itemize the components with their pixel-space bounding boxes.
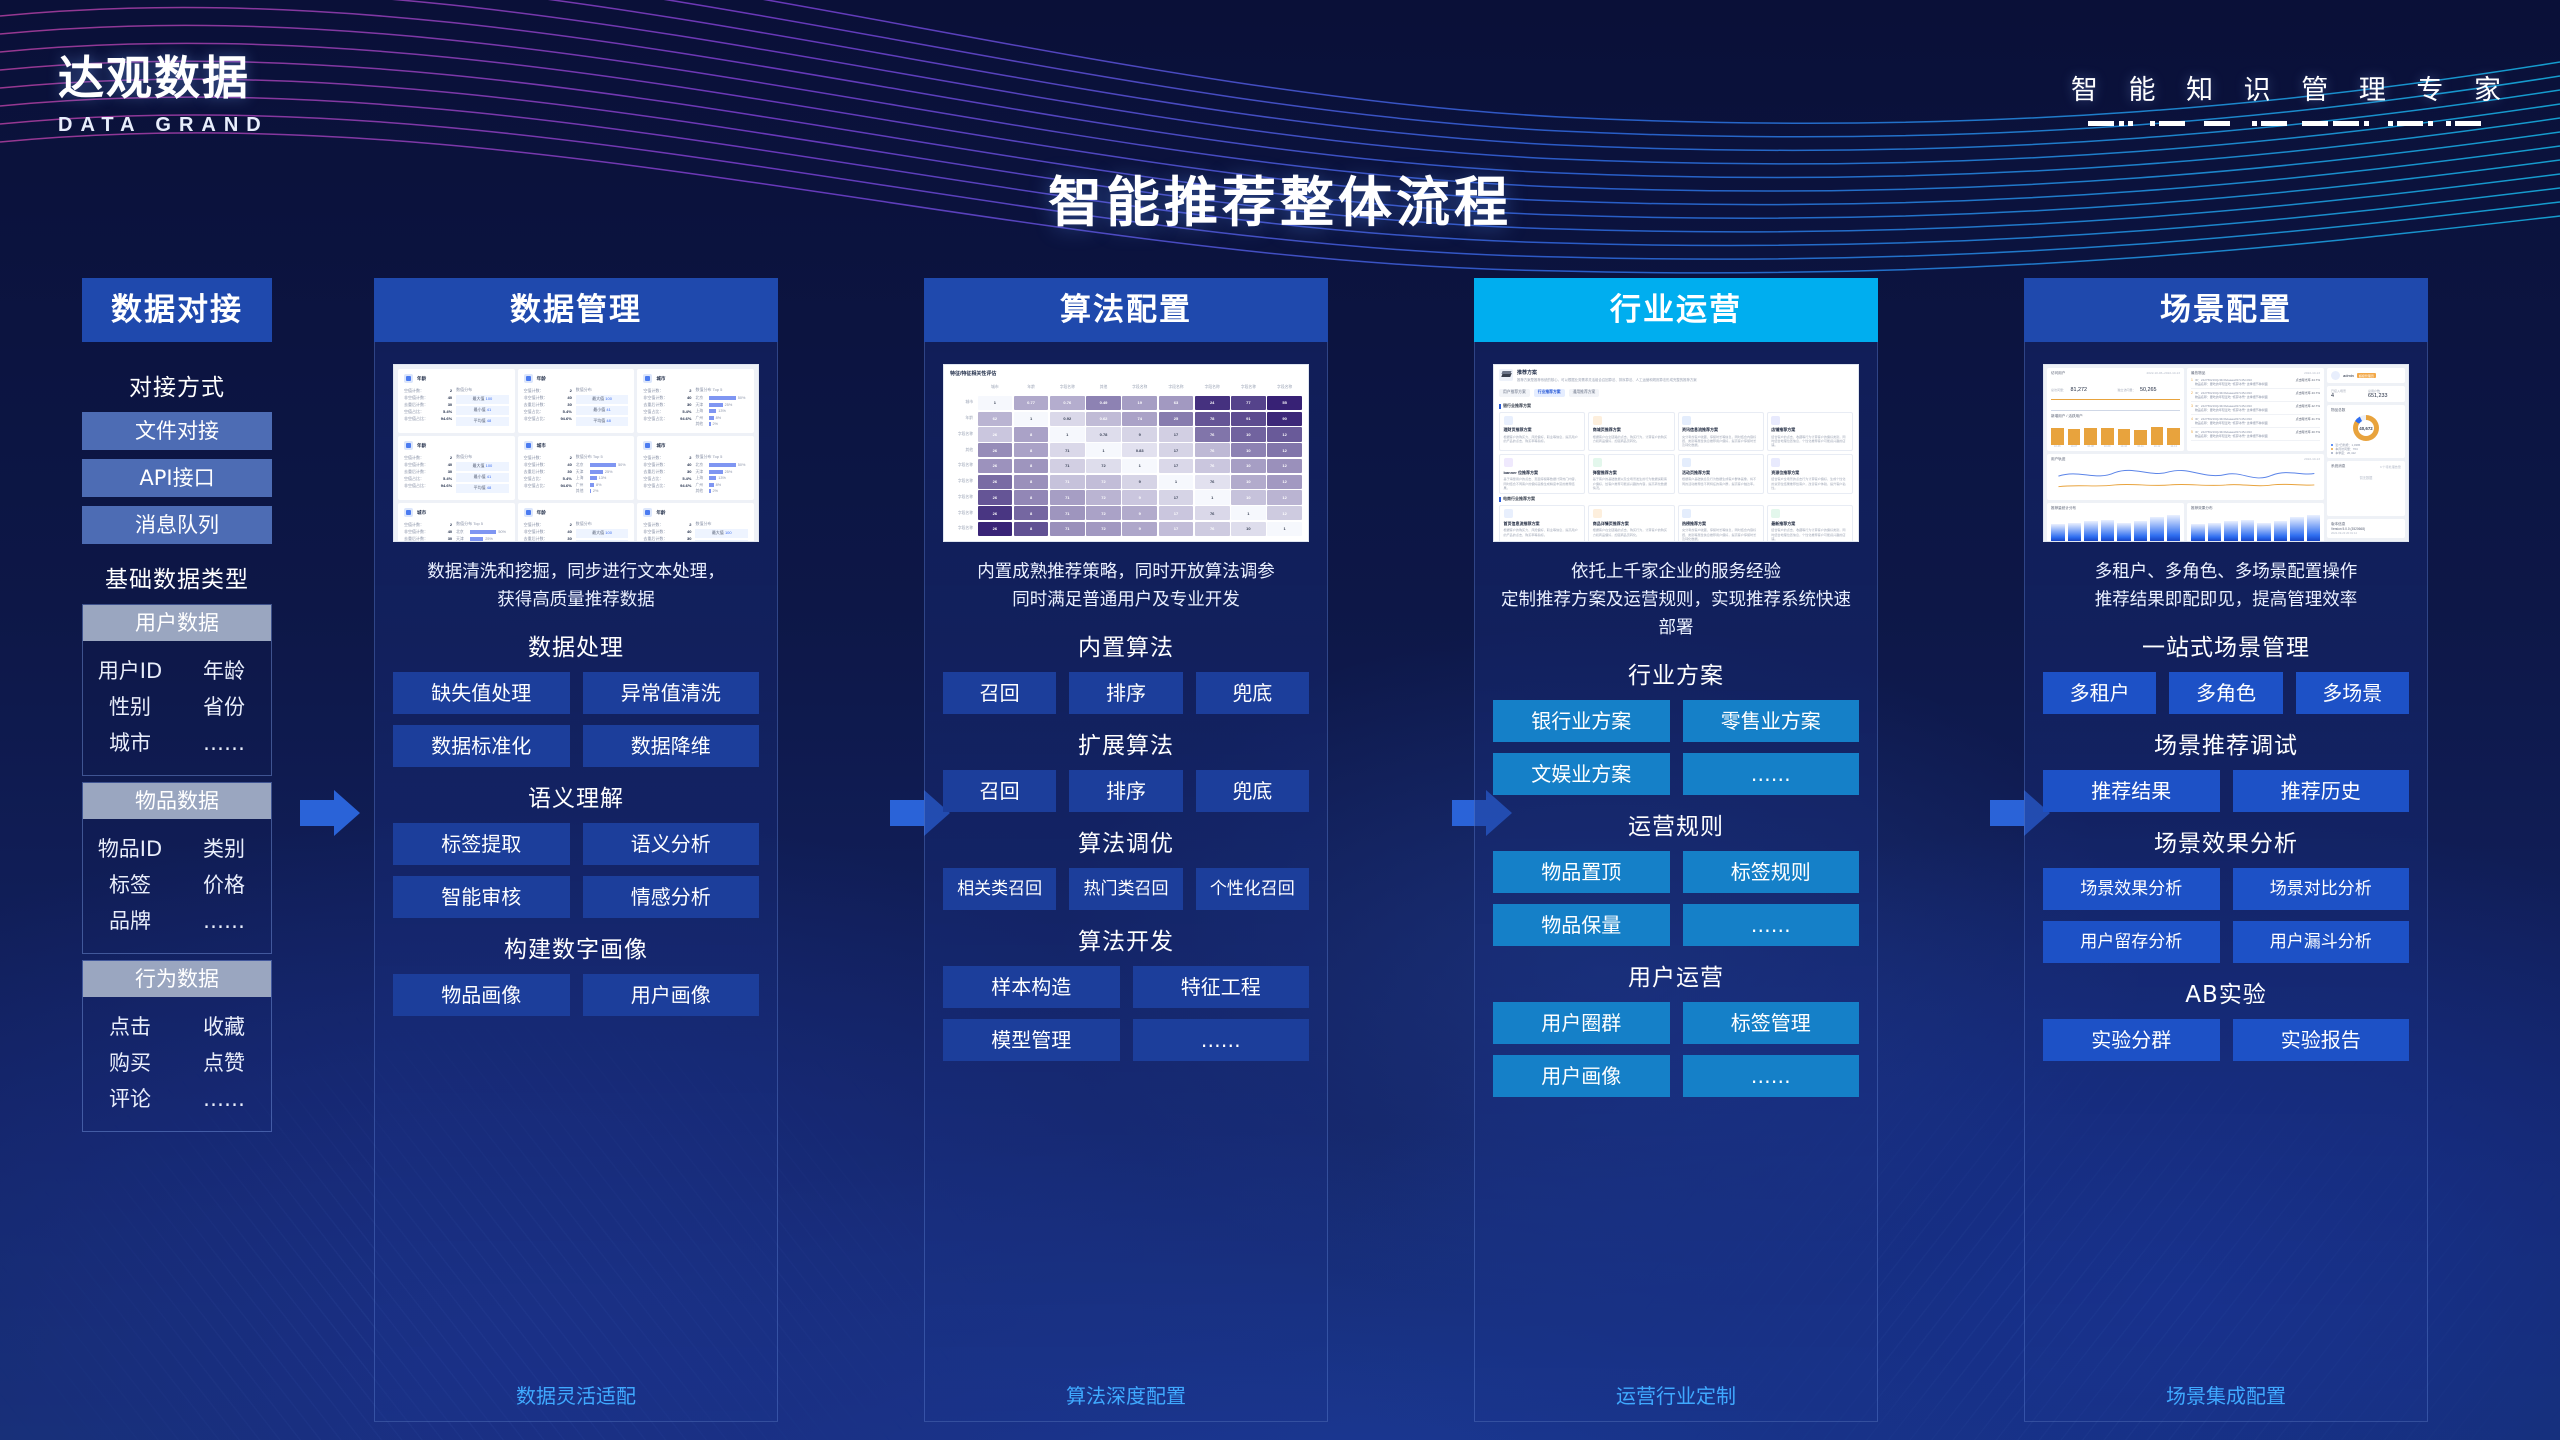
heatmap-cell[interactable]: 17 [1159, 522, 1194, 536]
stat-row: 空值计数：2 [404, 454, 452, 461]
heatmap-cell[interactable]: 0.92 [1050, 412, 1085, 426]
legend-item: 本季度：20,412 [2331, 451, 2401, 455]
solution-card[interactable]: 弹窗推荐方案 基于客户的基础数据以及全场景发生的行为数据提取客户偏好，给客户推荐… [1588, 454, 1674, 494]
heatmap-cell[interactable]: 72 [1086, 490, 1121, 504]
panel-subtitle: 推荐方案是推荐系统的核心，可以根据业务需求灵活组合召回算法、排序算法、人工运营和… [1517, 378, 1697, 383]
field-row: 城市…… [83, 725, 271, 761]
btn-rank-ext[interactable]: 排序 [1069, 770, 1182, 812]
heatmap-cell[interactable]: 76 [1195, 459, 1230, 473]
btn-banking-solution[interactable]: 银行业方案 [1493, 700, 1670, 742]
btn-missing-value[interactable]: 缺失值处理 [393, 672, 570, 714]
btn-fallback-ext[interactable]: 兜底 [1196, 770, 1309, 812]
user-name: admin [2343, 373, 2354, 378]
heatmap-cell[interactable]: 63 [1159, 396, 1194, 410]
solution-name: 理财页推荐方案 [1504, 427, 1581, 433]
dist-bar: 其他2% [695, 421, 748, 428]
user-trend-chart [2051, 462, 2320, 492]
stat-row: 空值计数：2 [404, 521, 452, 528]
pill-api-interface[interactable]: API接口 [82, 459, 272, 497]
btn-tag-rule[interactable]: 标签规则 [1683, 851, 1860, 893]
btn-more-rules[interactable]: …… [1683, 904, 1860, 946]
stat-row: 非空值计数：40 [524, 528, 572, 535]
btn-tag-management[interactable]: 标签管理 [1683, 1002, 1860, 1044]
btn-personal-recall[interactable]: 个性化召回 [1196, 868, 1309, 910]
solution-card[interactable]: 热榜推荐方案 充分考虑客户收藏、停留时长等信息，同时结合内容标题、类别等属性信息… [1678, 505, 1764, 542]
brand-logo: 达观数据 DATA GRAND [58, 42, 358, 137]
column-header-5: 场景配置 [2024, 278, 2428, 342]
btn-sentiment-analysis[interactable]: 情感分析 [583, 876, 760, 918]
heatmap-cell[interactable]: 1 [1050, 427, 1085, 441]
heatmap-cell[interactable]: 72 [1086, 522, 1121, 536]
desc-line: 定制推荐方案及运营规则，实现推荐系统快速部署 [1501, 590, 1851, 638]
dist-label: 数值分布 [456, 387, 509, 393]
solution-card[interactable]: 最新推荐方案 结合客户的点击、收藏等行为计算客户的偏好类别，同时结合地理位置信息… [1767, 505, 1853, 542]
group-title-data-processing: 数据处理 [393, 628, 759, 662]
btn-scene-compare-analysis[interactable]: 场景对比分析 [2233, 868, 2410, 910]
btn-standardize[interactable]: 数据标准化 [393, 725, 570, 767]
field-name: 年龄 [656, 510, 665, 516]
heatmap-cell[interactable]: 0.62 [1086, 412, 1121, 426]
stat-row: 去重后计数：30 [643, 468, 691, 475]
heatmap-row-header: 字段名称 [950, 459, 976, 473]
heatmap-cell[interactable]: 71 [1050, 490, 1085, 504]
column-header-3: 算法配置 [924, 278, 1328, 342]
heatmap-cell[interactable]: 12 [1267, 506, 1302, 520]
profiling-card[interactable]: 年龄 空值计数：2非空值计数：40去重后计数：30空值占比：5.4%非空值占比：… [518, 503, 635, 542]
field-label: 城市 [83, 725, 177, 761]
solution-card[interactable]: banner 位推荐方案 基于海量用户的点击、页面停留等数据计算热门内容，同时结… [1499, 454, 1585, 494]
btn-outlier-clean[interactable]: 异常值清洗 [583, 672, 760, 714]
profiling-card[interactable]: 年龄 空值计数：2非空值计数：40去重后计数：30空值占比：5.4%非空值占比：… [518, 369, 635, 433]
btn-tag-extract[interactable]: 标签提取 [393, 823, 570, 865]
heatmap-cell[interactable]: 1 [1122, 459, 1157, 473]
group-title-algo-tuning: 算法调优 [943, 824, 1309, 858]
heatmap-col-header: 字段名称 [1267, 380, 1302, 394]
solution-tab[interactable]: 行业推荐方案 [1534, 389, 1565, 397]
heatmap-cell[interactable]: 1 [1195, 490, 1230, 504]
heatmap-cell[interactable]: 72 [1086, 506, 1121, 520]
heatmap-cell[interactable]: 55 [1267, 396, 1302, 410]
btn-more-algo-dev[interactable]: …… [1133, 1019, 1310, 1061]
heatmap-cell[interactable]: 8 [1014, 506, 1049, 520]
heatmap-cell[interactable]: 71 [1050, 506, 1085, 520]
solution-icon [1682, 509, 1691, 518]
heatmap-row-header: 城市 [950, 396, 976, 410]
heatmap-cell[interactable]: 8 [1014, 427, 1049, 441]
heatmap-cell[interactable]: 9 [1122, 506, 1157, 520]
desc-line: 多租户、多角色、多场景配置操作 [2095, 562, 2358, 582]
solution-desc: 充分考虑客户收藏、停留时长等信息，同时结合内容标题、类别等属性信息推荐用户偏好，… [1682, 528, 1759, 541]
btn-item-pin[interactable]: 物品置顶 [1493, 851, 1670, 893]
heatmap-cell[interactable]: 10 [1231, 443, 1266, 457]
solution-desc: 根据客户在全链路的点击、购买行为，计算客户的购买力和商品偏好，加强商品页转化。 [1593, 528, 1670, 537]
heatmap-row-header: 字段名称 [950, 475, 976, 489]
heatmap-cell[interactable]: 26 [978, 490, 1013, 504]
solution-card[interactable]: 资源位推荐方案 结合客户全场景的点击行为计算客户偏好，生成个性化的资源位结果推荐… [1767, 454, 1853, 494]
chart-bar [2150, 517, 2164, 541]
heatmap-cell[interactable]: 76 [1195, 427, 1230, 441]
profiling-card[interactable]: 年龄 空值计数：2非空值计数：40去重后计数：30空值占比：5.4%非空值占比：… [398, 369, 515, 433]
screenshot-algorithm-config: 特征/特征相关性评估 城市年龄字段名称其他字段名称字段名称字段名称字段名称字段名… [943, 364, 1309, 542]
heatmap-cell[interactable]: 9 [1122, 522, 1157, 536]
stat-row: 空值计数：2 [643, 454, 691, 461]
dist-label: 数值分布 [456, 454, 509, 460]
heatmap-cell[interactable]: 71 [1050, 459, 1085, 473]
heatmap-cell[interactable]: 9 [1122, 475, 1157, 489]
solution-icon [1682, 416, 1691, 425]
heatmap-cell[interactable]: 76 [1195, 443, 1230, 457]
btn-dim-reduction[interactable]: 数据降维 [583, 725, 760, 767]
heatmap-cell[interactable]: 72 [1086, 475, 1121, 489]
btn-multi-role[interactable]: 多角色 [2169, 672, 2282, 714]
chart-bar [2101, 520, 2115, 541]
heatmap-cell[interactable]: 26 [978, 459, 1013, 473]
solution-card[interactable]: 店铺推荐方案 结合客户的点击、收藏等行为计算客户的偏好类别，同时结合地理位置信息… [1767, 412, 1853, 452]
solution-desc: 根据客户在全链路的点击、购买行为，计算客户的购买力和商品偏好，加强商品页转化。 [1593, 435, 1670, 444]
heatmap-cell[interactable]: 76 [1195, 522, 1230, 536]
btn-experiment-report[interactable]: 实验报告 [2233, 1019, 2410, 1061]
heatmap-cell[interactable]: 17 [1159, 506, 1194, 520]
chart-bar [2208, 523, 2222, 541]
field-label: 年龄 [177, 653, 271, 689]
heatmap-cell[interactable]: 71 [1050, 522, 1085, 536]
chart-bar [2118, 429, 2131, 445]
field-icon [404, 508, 413, 517]
heatmap-cell[interactable]: 10 [1231, 490, 1266, 504]
stat-row: 非空值占比：94.6% [643, 482, 691, 489]
btn-user-portrait-ops[interactable]: 用户画像 [1493, 1055, 1670, 1097]
heatmap-cell[interactable]: 12 [1267, 427, 1302, 441]
group-title-user-operations: 用户运营 [1493, 958, 1859, 992]
heatmap-cell[interactable]: 76 [1195, 506, 1230, 520]
solution-card[interactable]: 商品详情页推荐方案 根据客户在全链路的点击、购买行为，计算客户的购买力和商品偏好… [1588, 505, 1674, 542]
profiling-card[interactable]: 年龄 空值计数：2非空值计数：40去重后计数：30空值占比：5.4%非空值占比：… [398, 436, 515, 500]
heatmap-cell[interactable]: 0.83 [1122, 443, 1157, 457]
chart-bar [2068, 429, 2081, 445]
btn-smart-audit[interactable]: 智能审核 [393, 876, 570, 918]
heatmap-cell[interactable]: 12 [1267, 443, 1302, 457]
dist-box: 最小值 41 [456, 473, 509, 482]
heatmap-cell[interactable]: 1 [1231, 506, 1266, 520]
field-label: 购买 [83, 1045, 177, 1081]
axis-tick-label: 10-06 [2191, 541, 2204, 542]
btn-multi-tenant[interactable]: 多租户 [2043, 672, 2156, 714]
stat-row: 去重后计数：30 [404, 401, 452, 408]
group-title-extended-algo: 扩展算法 [943, 726, 1309, 760]
heatmap-cell[interactable]: 90 [1267, 412, 1302, 426]
field-label: 类别 [177, 831, 271, 867]
heatmap-cell[interactable]: 9 [1122, 427, 1157, 441]
btn-more-solution[interactable]: …… [1683, 753, 1860, 795]
card-title: 新增用户 / 活跃用户 [2051, 414, 2083, 419]
field-name: 年龄 [417, 376, 426, 382]
btn-recall-builtin[interactable]: 召回 [943, 672, 1056, 714]
pill-file-docking[interactable]: 文件对接 [82, 412, 272, 450]
heatmap-cell[interactable]: 0.78 [1086, 427, 1121, 441]
heatmap-cell[interactable]: 0.49 [1086, 396, 1121, 410]
heatmap-cell[interactable]: 0.76 [1050, 396, 1085, 410]
heatmap-cell[interactable]: 26 [978, 475, 1013, 489]
kpi-value: 50,265 [2140, 387, 2157, 393]
btn-related-recall[interactable]: 相关类召回 [943, 868, 1056, 910]
column-scene-config: 场景配置 访问用户2022-10-06~2022-10-13 总访问量： 81,… [2024, 278, 2428, 1422]
field-label: 用户ID [83, 653, 177, 689]
heatmap-cell[interactable]: 24 [1195, 396, 1230, 410]
list-item[interactable]: 1ID：242756216Qc9b3bdaaaa037c45c4f10物品名称：… [2191, 376, 2320, 389]
solution-icon [1771, 416, 1780, 425]
stat-row: 空值占比：5.4% [404, 475, 452, 482]
axis-tick-label: 10-11 [2274, 541, 2287, 542]
axis-tick-label: 10-08 [2084, 541, 2097, 542]
flow-arrow-1 [300, 790, 360, 836]
axis-tick-label: 10-13 [2167, 445, 2180, 448]
axis-tick-label: 10-07 [2068, 445, 2081, 448]
heatmap-cell[interactable]: 1 [1086, 443, 1121, 457]
chart-bar [2134, 430, 2147, 445]
heatmap-cell[interactable]: 9 [1122, 490, 1157, 504]
profiling-card[interactable]: 城市 空值计数：2非空值计数：40去重后计数：30空值占比：5.4%非空值占比：… [637, 436, 754, 500]
dist-box: 最大值 100 [695, 529, 748, 538]
solution-name: 最新推荐方案 [1771, 521, 1848, 527]
solution-tab[interactable]: 用户推荐方案 [1499, 389, 1530, 397]
column-header-4: 行业运营 [1474, 278, 1878, 342]
btn-feature-engineering[interactable]: 特征工程 [1133, 966, 1310, 1008]
heatmap-cell[interactable]: 1 [1267, 522, 1302, 536]
field-label: 省份 [177, 689, 271, 725]
field-name: 城市 [656, 443, 665, 449]
column-header-2: 数据管理 [374, 278, 778, 342]
btn-user-grouping[interactable]: 用户圈群 [1493, 1002, 1670, 1044]
donut-chart: 40,672 [2353, 415, 2379, 441]
card-title: 最热物品 [2191, 371, 2205, 376]
profiling-card[interactable]: 城市 空值计数：2非空值计数：40去重后计数：30空值占比：5.4%非空值占比：… [398, 503, 515, 542]
heatmap-col-header: 其他 [1086, 380, 1121, 394]
heatmap-cell[interactable]: 12 [1267, 490, 1302, 504]
stat-row: 非空值计数：40 [404, 528, 452, 535]
solution-card[interactable]: 首页信息流推荐方案 根据客户的购买力、风险偏好、职业等信息，提高用户的产品的点击… [1499, 505, 1585, 542]
chart-bar [2290, 517, 2304, 541]
btn-user-portrait[interactable]: 用户画像 [583, 974, 760, 1016]
heatmap-col-header: 字段名称 [1122, 380, 1157, 394]
solution-card[interactable]: 活动页推荐方案 根据客户基础信息及行为数据生成客户群体画像，将不同的活动推荐给不… [1678, 454, 1764, 494]
profiling-card[interactable]: 年龄 空值计数：2非空值计数：40去重后计数：30空值占比：5.4%非空值占比：… [637, 503, 754, 542]
heatmap-cell[interactable]: 8 [1014, 522, 1049, 536]
wave-decoration-icon [0, 0, 2560, 300]
list-item[interactable]: 5ID：242756216Qc9b3bdaaaa037c45c4f10物品名称：… [2191, 428, 2320, 441]
solution-desc: 基于海量用户的点击、页面停留等数据计算热门内容，同时结合不同客户的偏好画像生成精… [1504, 477, 1581, 490]
dist-bar: 其他2% [576, 488, 629, 495]
stat-row: 空值计数：2 [643, 387, 691, 394]
axis-tick-label: 10-10 [2258, 541, 2271, 542]
chart-bar [2068, 523, 2082, 541]
stat-row: 非空值计数：40 [643, 528, 691, 535]
card-date: 2022-10-13 [2304, 371, 2320, 376]
field-row: 购买点赞 [83, 1045, 271, 1081]
btn-item-portrait[interactable]: 物品画像 [393, 974, 570, 1016]
docking-method-label: 对接方式 [82, 368, 272, 402]
btn-multi-scene[interactable]: 多场景 [2296, 672, 2409, 714]
solution-card-grid: 理财页推荐方案 根据客户的购买力、风险偏好、职业等信息，提高用户的产品的点击、购… [1499, 412, 1853, 495]
stat-row: 空值占比：5.4% [524, 475, 572, 482]
donut-center-value: 40,672 [2353, 415, 2379, 441]
brand-tagline: 智 能 知 识 管 理 专 家 [2071, 68, 2512, 107]
heatmap-cell[interactable]: 10 [1231, 459, 1266, 473]
solution-icon [1593, 416, 1602, 425]
heatmap-cell[interactable]: 12 [1267, 459, 1302, 473]
field-name: 年龄 [417, 443, 426, 449]
field-label: 性别 [83, 689, 177, 725]
list-item[interactable]: 3ID：242756216Qc9b3bdaaaa037c45c4f10物品名称：… [2191, 402, 2320, 415]
heatmap-cell[interactable]: 19 [1122, 396, 1157, 410]
btn-recommend-result[interactable]: 推荐结果 [2043, 770, 2220, 812]
heatmap-cell[interactable]: 26 [978, 506, 1013, 520]
heatmap-cell[interactable]: 17 [1159, 427, 1194, 441]
solution-card[interactable]: 资讯信息流推荐方案 充分考虑客户收藏、停留时长等信息，同时结合内容标题、类别等属… [1678, 412, 1764, 452]
panel-title: 推荐方案 [1517, 369, 1697, 376]
heatmap-cell[interactable]: 10 [1231, 522, 1266, 536]
status-badge: 超级管理员 [2357, 373, 2376, 378]
heatmap-cell[interactable]: 25 [1159, 412, 1194, 426]
heatmap-cell[interactable]: 10 [1231, 427, 1266, 441]
chart-bar [2051, 524, 2065, 541]
column-footer-3: 算法深度配置 [925, 1380, 1327, 1409]
stat-row: 空值占比：5.4% [643, 475, 691, 482]
dist-box: 最小值 41 [576, 540, 629, 542]
dist-box: 最小值 41 [456, 406, 509, 415]
btn-experiment-group[interactable]: 实验分群 [2043, 1019, 2220, 1061]
btn-recommend-history[interactable]: 推荐历史 [2233, 770, 2410, 812]
heatmap-row-header: 年龄 [950, 412, 976, 426]
heatmap-cell[interactable]: 71 [1050, 475, 1085, 489]
btn-fallback-builtin[interactable]: 兜底 [1196, 672, 1309, 714]
heatmap-cell[interactable]: 72 [1086, 459, 1121, 473]
btn-rank-builtin[interactable]: 排序 [1069, 672, 1182, 714]
dist-box: 平均值 48 [456, 484, 509, 493]
heatmap-cell[interactable]: 91 [1231, 412, 1266, 426]
btn-semantic-analysis[interactable]: 语义分析 [583, 823, 760, 865]
heatmap-cell[interactable]: 71 [1050, 443, 1085, 457]
solution-desc: 根据客户的购买力、风险偏好、职业等信息，提高用户的产品的点击、购买率等指标。 [1504, 435, 1581, 444]
stat-row: 去重后计数：30 [404, 535, 452, 542]
profiling-card[interactable]: 城市 空值计数：2非空值计数：40去重后计数：30空值占比：5.4%非空值占比：… [518, 436, 635, 500]
heatmap-cell[interactable]: 17 [1159, 443, 1194, 457]
heatmap-cell[interactable]: 1 [978, 396, 1013, 410]
heatmap-cell[interactable]: 78 [1195, 412, 1230, 426]
field-label: …… [177, 903, 271, 939]
kpi-label: 总访问量： [2051, 388, 2066, 392]
solution-name: 活动页推荐方案 [1682, 470, 1759, 476]
solution-desc: 结合客户的点击、收藏等行为计算客户的偏好类别，同时结合地理位置信息，个性化推荐客… [1771, 528, 1848, 541]
axis-tick-label: 10-07 [2208, 541, 2221, 542]
field-name: 年龄 [537, 510, 546, 516]
solution-name: 店铺推荐方案 [1771, 427, 1848, 433]
dist-label: 数值分布 [695, 521, 748, 527]
heatmap-col-header: 城市 [978, 380, 1013, 394]
list-item[interactable]: 2ID：242756216Qc9b3bdaaaa037c45c4f10物品名称：… [2191, 389, 2320, 402]
heatmap-cell[interactable]: 10 [1231, 475, 1266, 489]
field-row: 点击收藏 [83, 1009, 271, 1045]
solution-tab[interactable]: 通用推荐方案 [1569, 389, 1600, 397]
solution-name: 资讯信息流推荐方案 [1682, 427, 1759, 433]
solution-card[interactable]: 理财页推荐方案 根据客户的购买力、风险偏好、职业等信息，提高用户的产品的点击、购… [1499, 412, 1585, 452]
btn-sample-construct[interactable]: 样本构造 [943, 966, 1120, 1008]
heatmap-cell[interactable]: 26 [978, 427, 1013, 441]
field-icon [643, 374, 652, 383]
heatmap-cell[interactable]: 76 [1195, 475, 1230, 489]
solution-card[interactable]: 商城页推荐方案 根据客户在全链路的点击、购买行为，计算客户的购买力和商品偏好，加… [1588, 412, 1674, 452]
dist-box: 最大值 100 [456, 462, 509, 471]
btn-model-management[interactable]: 模型管理 [943, 1019, 1120, 1061]
axis-tick-label: 10-08 [2084, 445, 2097, 448]
stat-row: 非空值计数：40 [643, 394, 691, 401]
desc-line: 获得高质量推荐数据 [497, 590, 655, 610]
heatmap-cell[interactable]: 8 [1014, 475, 1049, 489]
btn-entertainment-solution[interactable]: 文娱业方案 [1493, 753, 1670, 795]
btn-recall-ext[interactable]: 召回 [943, 770, 1056, 812]
stat-row: 去重后计数：30 [524, 468, 572, 475]
heatmap-cell[interactable]: 1 [1014, 412, 1049, 426]
list-item[interactable]: 4ID：242756216Qc9b3bdaaaa037c45c4f10物品名称：… [2191, 415, 2320, 428]
profiling-card[interactable]: 城市 空值计数：2非空值计数：40去重后计数：30空值占比：5.4%非空值占比：… [637, 369, 754, 433]
heatmap-cell[interactable]: 1 [1159, 475, 1194, 489]
chart-bar [2051, 428, 2064, 445]
axis-tick-label: 10-13 [2307, 541, 2320, 542]
btn-retail-solution[interactable]: 零售业方案 [1683, 700, 1860, 742]
heatmap-cell[interactable]: 12 [1267, 475, 1302, 489]
heatmap-cell[interactable]: 26 [978, 443, 1013, 457]
heatmap-cell[interactable]: 8 [1014, 459, 1049, 473]
solution-icon [1593, 509, 1602, 518]
heatmap-cell[interactable]: 8 [1014, 443, 1049, 457]
heatmap-cell[interactable]: 17 [1159, 459, 1194, 473]
desc-line: 同时满足普通用户及专业开发 [1012, 590, 1240, 610]
chart-bar [2257, 523, 2271, 541]
heatmap-cell[interactable]: 26 [978, 522, 1013, 536]
pill-message-queue[interactable]: 消息队列 [82, 506, 272, 544]
btn-user-retention-analysis[interactable]: 用户留存分析 [2043, 921, 2220, 963]
data-group-user: 用户数据 用户ID年龄 性别省份 城市…… [82, 604, 272, 776]
heatmap-cell[interactable]: 62 [978, 412, 1013, 426]
btn-hot-recall[interactable]: 热门类召回 [1069, 868, 1182, 910]
heatmap-cell[interactable]: 74 [1122, 412, 1157, 426]
heatmap-cell[interactable]: 17 [1159, 490, 1194, 504]
solution-name: banner 位推荐方案 [1504, 470, 1581, 476]
dist-label: 数值分布 Top 5 [456, 521, 509, 527]
chart-bar [2084, 428, 2097, 445]
column-industry-operations: 行业运营 推荐方案 推荐方案是推荐系统的核心，可以根据业务需求灵活组合召回算法、… [1474, 278, 1878, 1422]
group-title-ab-test: AB实验 [2043, 975, 2409, 1009]
btn-scene-effect-analysis[interactable]: 场景效果分析 [2043, 868, 2220, 910]
field-icon [643, 508, 652, 517]
heatmap-cell[interactable]: 0.77 [1014, 396, 1049, 410]
kpi-value: 4 [2331, 393, 2364, 399]
btn-item-guarantee[interactable]: 物品保量 [1493, 904, 1670, 946]
solution-desc: 根据客户的购买力、风险偏好、职业等信息，提高用户的产品的点击、购买率等指标。 [1504, 528, 1581, 537]
column-data-docking: 数据对接 对接方式 文件对接 API接口 消息队列 基础数据类型 用户数据 用户… [82, 278, 272, 1150]
heatmap-cell[interactable]: 77 [1231, 396, 1266, 410]
basic-data-type-label: 基础数据类型 [82, 560, 272, 594]
solution-name: 商城页推荐方案 [1593, 427, 1670, 433]
btn-user-funnel-analysis[interactable]: 用户漏斗分析 [2233, 921, 2410, 963]
btn-more-user-ops[interactable]: …… [1683, 1055, 1860, 1097]
field-icon [643, 441, 652, 450]
field-label: …… [177, 725, 271, 761]
column-desc-5: 多租户、多角色、多场景配置操作 推荐结果即配即见，提高管理效率 [2047, 558, 2405, 614]
heatmap-cell[interactable]: 8 [1014, 490, 1049, 504]
dist-label: 数值分布 [576, 521, 629, 527]
heatmap-row-header: 字段名称 [950, 490, 976, 504]
solution-icon [1593, 458, 1602, 467]
